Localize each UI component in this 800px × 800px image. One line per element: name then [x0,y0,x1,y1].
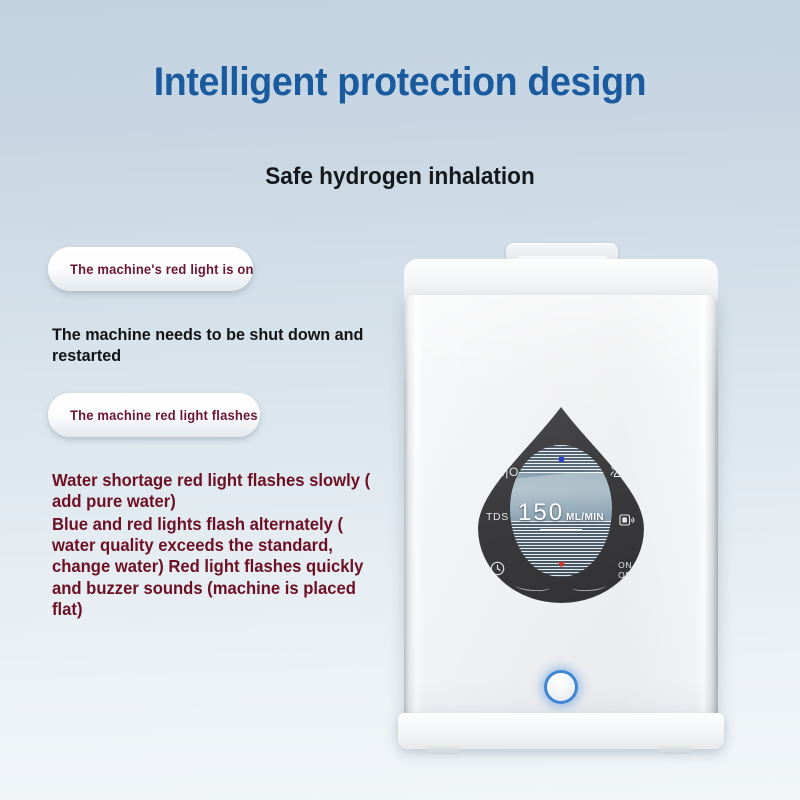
tds-label[interactable]: TDS [486,511,509,523]
power-button[interactable] [544,670,578,704]
callout-pill-red-light-on: The machine's red light is on [48,247,253,291]
device-front-panel: 150ML/MIN H|O TDS ON / OFF [404,295,718,733]
page-subtitle: Safe hydrogen inhalation [24,163,776,191]
callout-body-red-light-on: The machine needs to be shut down and re… [52,325,366,366]
device-foot-left [426,746,460,754]
callout-pill-label: The machine's red light is on [70,262,254,277]
flow-rate-unit: ML/MIN [566,512,604,523]
hydrogen-inhalation-machine: 150ML/MIN H|O TDS ON / OFF [396,243,726,763]
flow-rate-reading: 150ML/MIN [510,499,612,527]
callout-pill-label: The machine red light flashes [70,408,258,423]
display-screen: 150ML/MIN [510,445,612,577]
card-icon[interactable] [619,513,635,532]
device-foot-right [658,746,692,754]
page-title: Intelligent protection design [24,60,776,105]
blue-indicator-marker [559,457,564,462]
callout-body-line: Water shortage red light flashes slowly … [52,470,385,513]
display-arc-right [572,581,607,592]
callout-body-line: Blue and red lights flash alternately ( … [52,514,385,621]
reading-underline [540,529,582,531]
device-base [398,713,724,749]
callout-pill-red-light-flashes: The machine red light flashes [48,393,260,437]
display-arc-left [516,581,551,592]
callout-body-red-light-flashes: Water shortage red light flashes slowly … [52,470,385,621]
flow-rate-value: 150 [518,499,564,526]
